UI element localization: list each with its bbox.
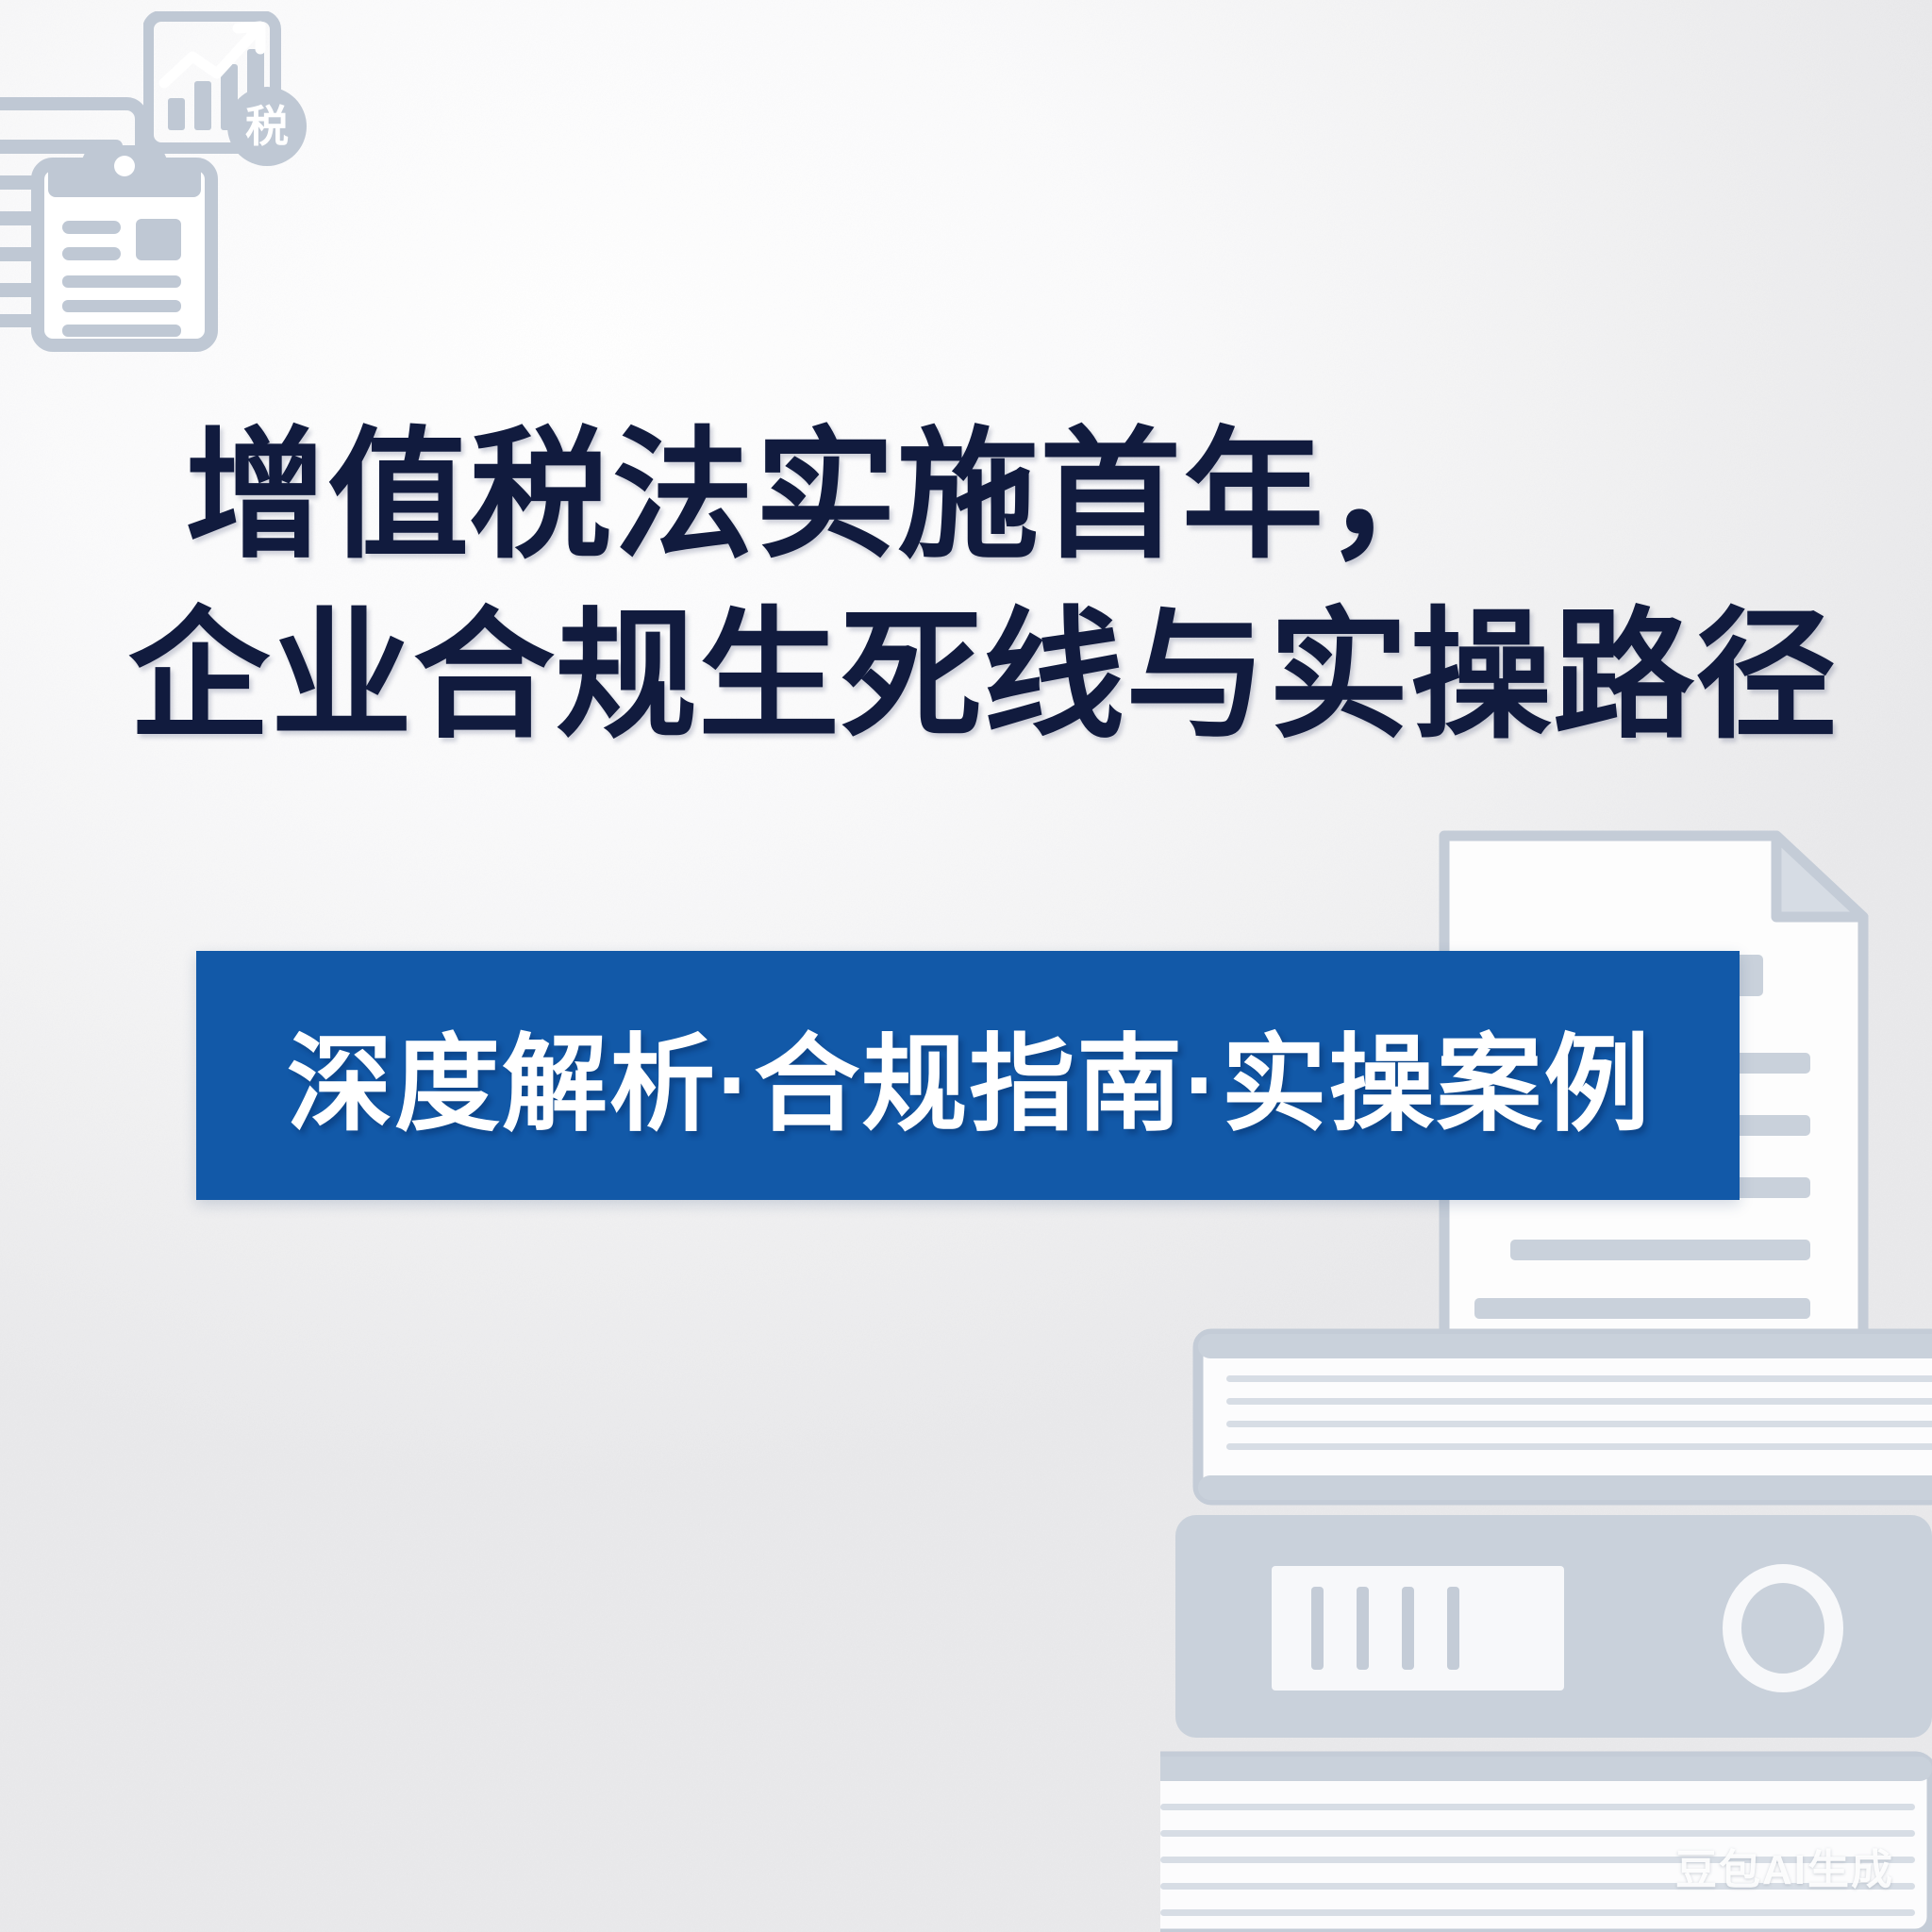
title-line-2: 企业合规生死线与实操路径 bbox=[128, 586, 1789, 766]
subtitle-banner: 深度解析·合规指南·实操案例 bbox=[196, 951, 1740, 1200]
book-top bbox=[1198, 1334, 1932, 1500]
poster-canvas: 税 bbox=[0, 0, 1932, 1932]
book-middle bbox=[1175, 1515, 1932, 1738]
page-title: 增值税法实施首年， 企业合规生死线与实操路径 bbox=[185, 406, 1789, 765]
title-line-1: 增值税法实施首年， bbox=[185, 406, 1789, 586]
tax-badge-label: 税 bbox=[245, 102, 289, 151]
subtitle-banner-text: 深度解析·合规指南·实操案例 bbox=[287, 999, 1652, 1152]
tax-chart-card-icon: 税 bbox=[143, 11, 318, 186]
watermark-label: 豆包AI生成 bbox=[1675, 1836, 1894, 1896]
